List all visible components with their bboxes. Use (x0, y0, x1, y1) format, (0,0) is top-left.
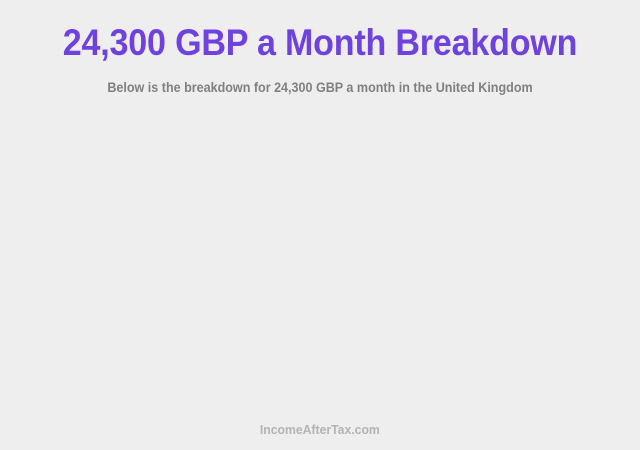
chart-placeholder-empty (0, 120, 640, 410)
page-root: 24,300 GBP a Month Breakdown Below is th… (0, 0, 640, 450)
page-title: 24,300 GBP a Month Breakdown (26, 22, 615, 64)
site-watermark: IncomeAfterTax.com (260, 422, 380, 437)
page-header: 24,300 GBP a Month Breakdown Below is th… (0, 0, 640, 96)
page-subtitle: Below is the breakdown for 24,300 GBP a … (22, 64, 617, 96)
breakdown-chart-area (0, 120, 640, 410)
page-footer: IncomeAfterTax.com (0, 410, 640, 450)
